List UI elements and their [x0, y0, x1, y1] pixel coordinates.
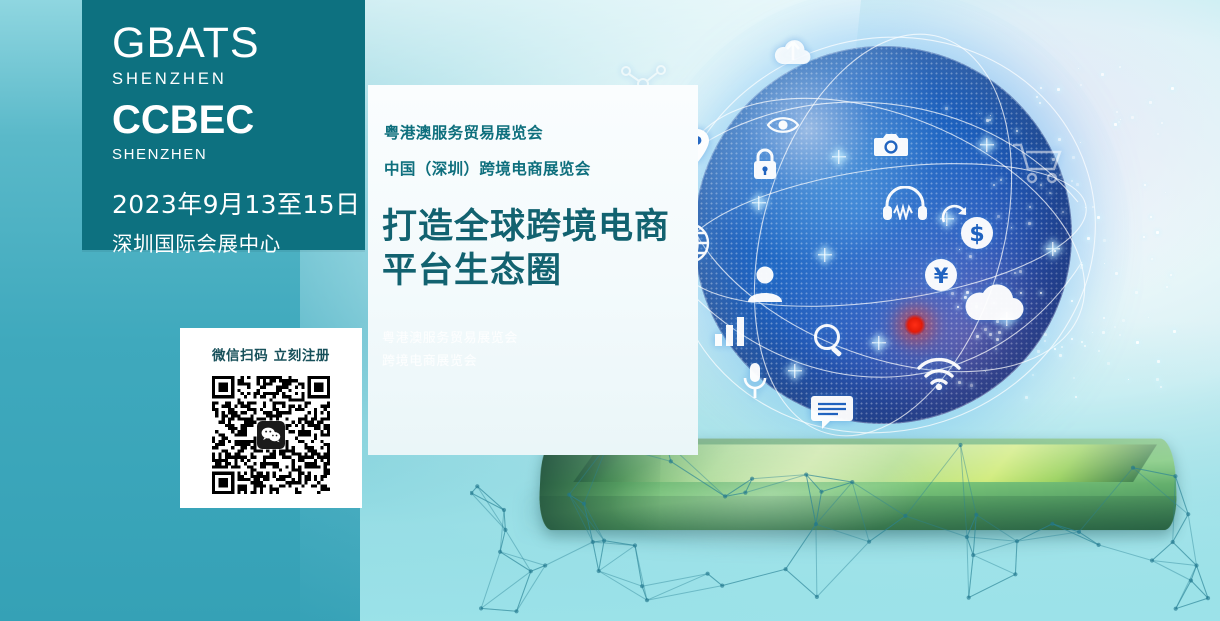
upload-cloud-icon: [772, 38, 814, 72]
headphones-icon: [882, 186, 928, 220]
watermark-line-1: 粤港澳服务贸易展览会: [382, 328, 698, 351]
headline-line-2: 平台生态圈: [382, 249, 698, 293]
event-date: 2023年9月13至15日: [112, 185, 365, 221]
user-icon: [746, 264, 784, 302]
brand-ccbec: CCBEC: [112, 100, 365, 140]
event-venue: 深圳国际会展中心: [112, 227, 365, 257]
bar-chart-icon: [714, 314, 746, 346]
brand-ccbec-city: SHENZHEN: [112, 146, 365, 163]
camera-icon: [874, 132, 908, 158]
cloud-icon: [962, 284, 1026, 322]
red-location-dot: [904, 314, 926, 336]
refresh-arrow-icon: [940, 202, 970, 232]
watermark-line-2: 跨境电商展览会: [382, 351, 698, 374]
qr-card-title: 微信扫码 立刻注册: [180, 328, 362, 364]
watermark-text: 粤港澳服务贸易展览会 跨境电商展览会: [382, 328, 698, 374]
content-panel: 粤港澳服务贸易展览会 中国（深圳）跨境电商展览会 打造全球跨境电商 平台生态圈 …: [368, 85, 698, 455]
svg-text:¥: ¥: [934, 264, 949, 288]
yen-coin-icon: ¥: [922, 256, 960, 294]
lock-icon: [752, 148, 778, 180]
page-title: 打造全球跨境电商 平台生态圈: [382, 205, 698, 294]
qr-code[interactable]: [212, 376, 330, 494]
eye-icon: [766, 114, 800, 136]
brand-gbats: GBATS: [112, 22, 365, 65]
exhibition-subtitle-2: 中国（深圳）跨境电商展览会: [384, 157, 698, 179]
globe-illustration: $ ¥: [694, 46, 1072, 424]
headline-line-1: 打造全球跨境电商: [382, 205, 698, 249]
event-logo-panel: GBATS SHENZHEN CCBEC SHENZHEN 2023年9月13至…: [82, 0, 365, 250]
promo-banner: $ ¥: [0, 0, 1220, 621]
wifi-icon: [916, 356, 962, 390]
search-icon: [812, 322, 848, 358]
exhibition-subtitle-1: 粤港澳服务贸易展览会: [384, 121, 698, 143]
svg-text:$: $: [969, 222, 984, 247]
brand-gbats-city: SHENZHEN: [112, 70, 365, 89]
microphone-icon: [742, 362, 768, 400]
shopping-cart-icon: [1012, 142, 1066, 184]
wechat-icon: [257, 421, 285, 449]
qr-registration-card[interactable]: 微信扫码 立刻注册: [180, 328, 362, 508]
